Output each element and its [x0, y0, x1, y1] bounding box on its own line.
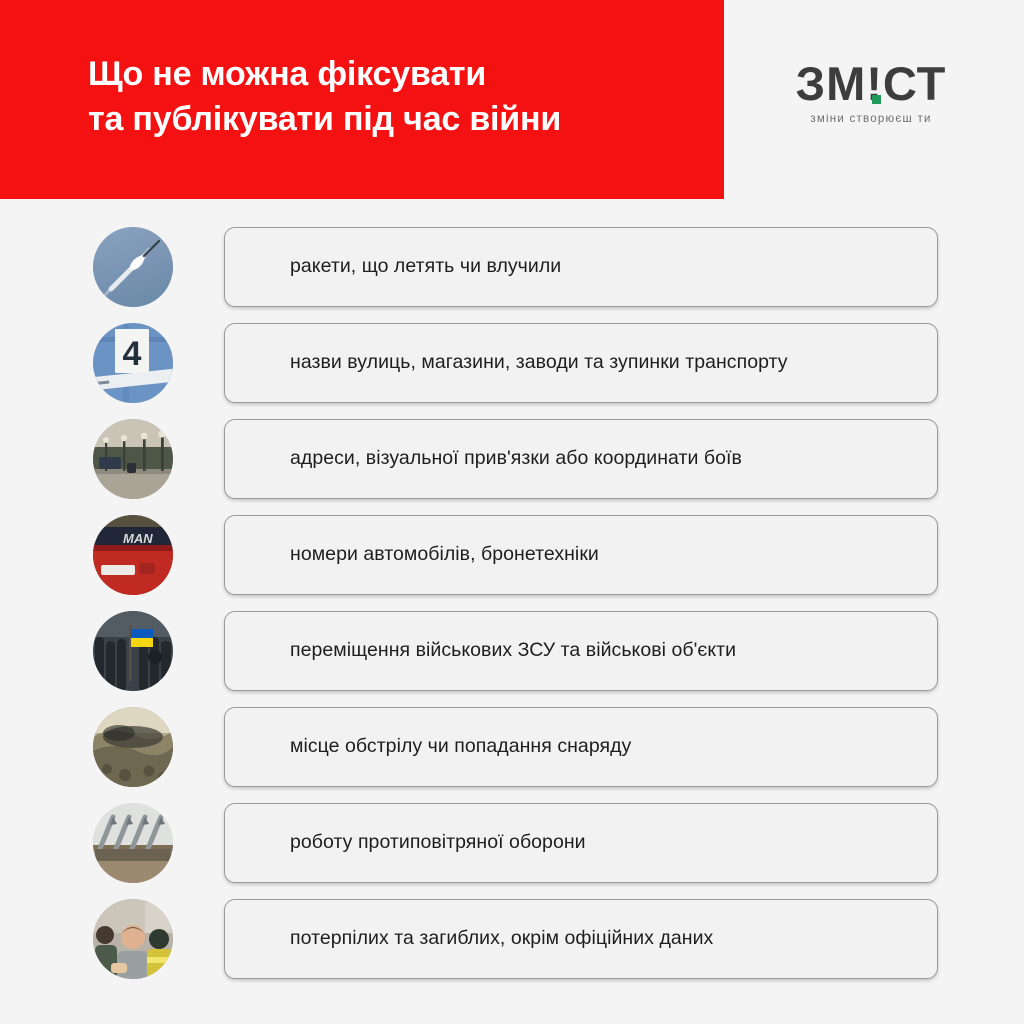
- shelling-impact-site-photo: [93, 707, 173, 787]
- card-text: назви вулиць, магазини, заводи та зупинк…: [225, 349, 814, 377]
- prohibited-item-card[interactable]: переміщення військових ЗСУ та військові …: [224, 611, 938, 691]
- list-row: потерпілих та загиблих, окрім офіційних …: [0, 899, 1024, 979]
- list-row: роботу протиповітряної оборони: [0, 803, 1024, 883]
- prohibited-item-card[interactable]: адреси, візуальної прив'язки або координ…: [224, 419, 938, 499]
- prohibited-item-card[interactable]: місце обстрілу чи попадання снаряду: [224, 707, 938, 787]
- card-text: місце обстрілу чи попадання снаряду: [225, 733, 657, 761]
- logo-wordmark: ЗМ!СТ: [796, 60, 947, 107]
- svg-text:4: 4: [123, 335, 142, 373]
- brand-logo[interactable]: ЗМ!СТ зміни створюєш ти: [793, 60, 949, 125]
- rescuers-helping-victim-photo: [93, 899, 173, 979]
- air-defense-missile-battery-photo: [93, 803, 173, 883]
- prohibited-item-card[interactable]: потерпілих та загиблих, окрім офіційних …: [224, 899, 938, 979]
- list-row: 4 назви вулиць, магазини, заводи та зупи…: [0, 323, 1024, 403]
- prohibited-item-card[interactable]: роботу протиповітряної оборони: [224, 803, 938, 883]
- prohibited-item-card[interactable]: ракети, що летять чи влучили: [224, 227, 938, 307]
- street-view-photo: [93, 419, 173, 499]
- card-text: номери автомобілів, бронетехніки: [225, 541, 625, 569]
- list-row: адреси, візуальної прив'язки або координ…: [0, 419, 1024, 499]
- logo-tagline: зміни створюєш ти: [793, 113, 949, 125]
- header: Що не можна фіксувати та публікувати під…: [0, 0, 1024, 200]
- page-title: Що не можна фіксувати та публікувати під…: [88, 52, 708, 142]
- list-row: MAN номери автомобілів, бронетехніки: [0, 515, 1024, 595]
- prohibited-items-list: ракети, що летять чи влучили 4 назви вул…: [0, 227, 1024, 979]
- card-text: потерпілих та загиблих, окрім офіційних …: [225, 925, 739, 953]
- logo-green-dot-icon: [872, 95, 881, 104]
- list-row: переміщення військових ЗСУ та військові …: [0, 611, 1024, 691]
- street-sign-number-4-photo: 4: [93, 323, 173, 403]
- prohibited-item-card[interactable]: назви вулиць, магазини, заводи та зупинк…: [224, 323, 938, 403]
- svg-text:MAN: MAN: [123, 531, 153, 546]
- truck-license-plate-photo: MAN: [93, 515, 173, 595]
- list-row: ракети, що летять чи влучили: [0, 227, 1024, 307]
- missile-in-sky-photo: [93, 227, 173, 307]
- card-text: ракети, що летять чи влучили: [225, 253, 587, 281]
- card-text: адреси, візуальної прив'язки або координ…: [225, 445, 768, 473]
- prohibited-item-card[interactable]: номери автомобілів, бронетехніки: [224, 515, 938, 595]
- card-text: переміщення військових ЗСУ та військові …: [225, 637, 762, 665]
- card-text: роботу протиповітряної оборони: [225, 829, 612, 857]
- soldiers-with-ukrainian-flag-photo: [93, 611, 173, 691]
- list-row: місце обстрілу чи попадання снаряду: [0, 707, 1024, 787]
